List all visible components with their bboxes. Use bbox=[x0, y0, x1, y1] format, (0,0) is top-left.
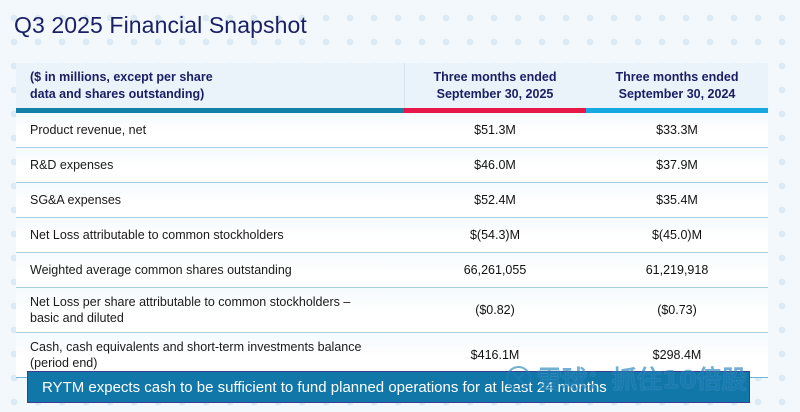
table-row: Net Loss attributable to common stockhol… bbox=[16, 218, 768, 252]
table-row: Weighted average common shares outstandi… bbox=[16, 253, 768, 287]
row-label: Weighted average common shares outstandi… bbox=[16, 253, 404, 287]
row-label-text: Product revenue, net bbox=[30, 122, 146, 138]
row-value-2025: 66,261,055 bbox=[404, 253, 586, 287]
table-row: R&D expenses $46.0M $37.9M bbox=[16, 148, 768, 182]
cash-runway-banner: RYTM expects cash to be sufficient to fu… bbox=[27, 371, 750, 403]
row-value-2025: $52.4M bbox=[404, 183, 586, 217]
row-value-2025: $(54.3)M bbox=[404, 218, 586, 252]
row-label-text: Weighted average common shares outstandi… bbox=[30, 262, 292, 278]
row-label: Net Loss attributable to common stockhol… bbox=[16, 218, 404, 252]
header-col1-line-2: September 30, 2025 bbox=[437, 86, 554, 103]
row-label: SG&A expenses bbox=[16, 183, 404, 217]
row-label-text: R&D expenses bbox=[30, 157, 113, 173]
header-label-line-1: ($ in millions, except per share bbox=[30, 69, 213, 86]
row-value-2024: $35.4M bbox=[586, 183, 768, 217]
row-value-2024: $33.3M bbox=[586, 113, 768, 147]
row-label-text: Net Loss per share attributable to commo… bbox=[30, 294, 350, 310]
row-label: Net Loss per share attributable to commo… bbox=[16, 288, 404, 332]
row-value-2024: 61,219,918 bbox=[586, 253, 768, 287]
row-value-2024: $(45.0)M bbox=[586, 218, 768, 252]
header-column-divider bbox=[404, 63, 405, 108]
page-title: Q3 2025 Financial Snapshot bbox=[14, 12, 307, 39]
slide-root: Q3 2025 Financial Snapshot ($ in million… bbox=[0, 0, 800, 412]
row-label-text: SG&A expenses bbox=[30, 192, 121, 208]
table-row: Net Loss per share attributable to commo… bbox=[16, 288, 768, 332]
table-header-label-cell: ($ in millions, except per share data an… bbox=[16, 63, 404, 108]
row-value-2025: ($0.82) bbox=[404, 288, 586, 332]
table-row: SG&A expenses $52.4M $35.4M bbox=[16, 183, 768, 217]
table-header-col-2025: Three months ended September 30, 2025 bbox=[404, 63, 586, 108]
row-label: R&D expenses bbox=[16, 148, 404, 182]
row-value-2025: $51.3M bbox=[404, 113, 586, 147]
row-label: Product revenue, net bbox=[16, 113, 404, 147]
header-col2-line-2: September 30, 2024 bbox=[619, 86, 736, 103]
header-col1-line-1: Three months ended bbox=[434, 69, 557, 86]
row-value-2024: ($0.73) bbox=[586, 288, 768, 332]
table-header-row: ($ in millions, except per share data an… bbox=[16, 63, 768, 108]
row-label-text-line-2: (period end) bbox=[30, 355, 361, 371]
row-label-text: Net Loss attributable to common stockhol… bbox=[30, 227, 284, 243]
row-value-2025: $46.0M bbox=[404, 148, 586, 182]
financial-snapshot-table: ($ in millions, except per share data an… bbox=[16, 63, 768, 378]
table-header-col-2024: Three months ended September 30, 2024 bbox=[586, 63, 768, 108]
table-row: Product revenue, net $51.3M $33.3M bbox=[16, 113, 768, 147]
header-col2-line-1: Three months ended bbox=[616, 69, 739, 86]
row-value-2024: $37.9M bbox=[586, 148, 768, 182]
row-label-text-line-2: basic and diluted bbox=[30, 310, 350, 326]
row-label-text: Cash, cash equivalents and short-term in… bbox=[30, 339, 361, 355]
banner-text: RYTM expects cash to be sufficient to fu… bbox=[28, 379, 607, 396]
header-label-line-2: data and shares outstanding) bbox=[30, 86, 213, 103]
